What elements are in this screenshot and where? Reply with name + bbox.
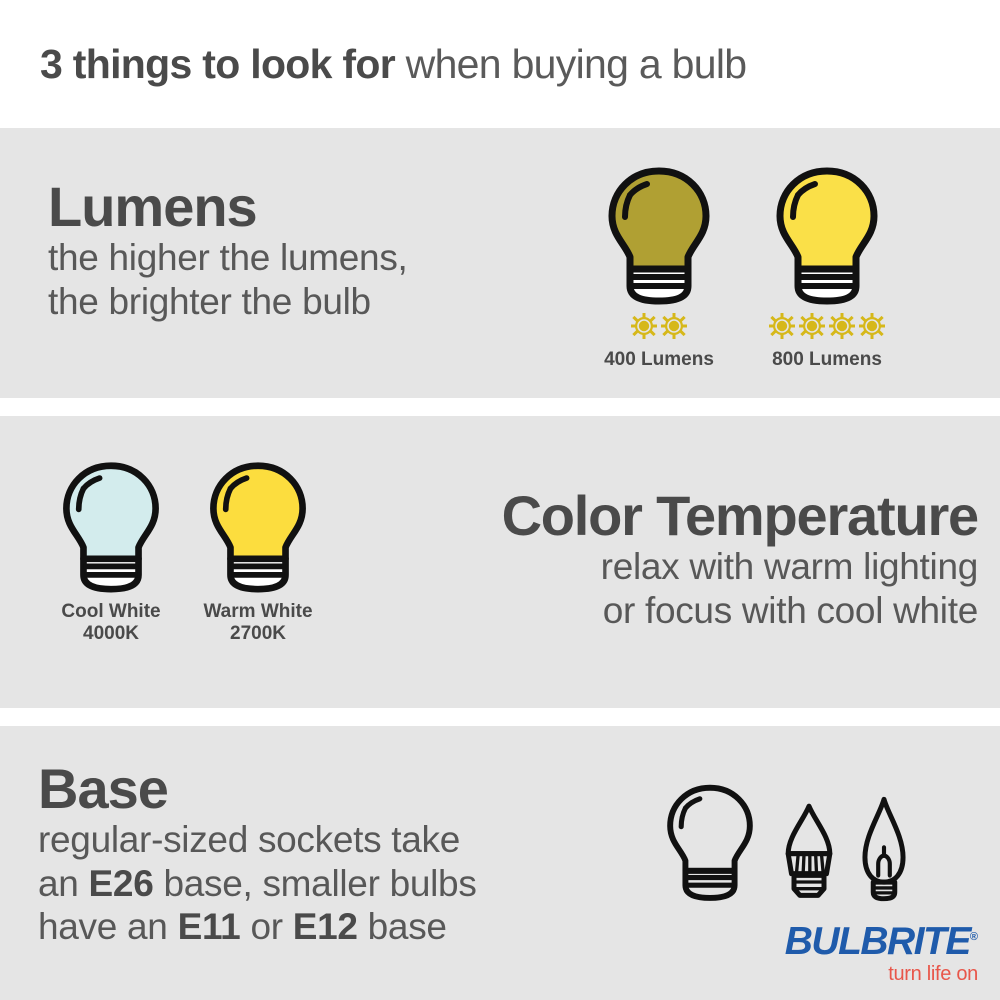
base-code-e12: E12: [293, 906, 358, 947]
color-temperature-icon-group: Cool White 4000K Warm White 2700K: [55, 460, 314, 645]
base-subline-2: an E26 base, smaller bulbs: [38, 862, 477, 905]
base-code-e11: E11: [178, 906, 241, 947]
lumens-subline-1: the higher the lumens,: [48, 236, 408, 279]
base-heading: Base: [38, 760, 477, 818]
color-temperature-subline-2: or focus with cool white: [502, 589, 978, 632]
bulb-cool-white-label-1: Cool White: [61, 601, 160, 623]
sun-icon: [859, 313, 885, 339]
base-line2-pre: an: [38, 863, 89, 904]
base-line3-mid: or: [240, 906, 292, 947]
bulb-400-lumens-icon: [600, 165, 718, 305]
page-title: 3 things to look for when buying a bulb: [40, 41, 746, 88]
bulb-400-lumens-label: 400 Lumens: [604, 349, 714, 371]
color-temperature-heading: Color Temperature: [502, 487, 978, 545]
bulbrite-wordmark-text: BULBRITE: [785, 920, 970, 963]
bulb-warm-white-icon: [202, 460, 314, 593]
bulb-led-candle-outline-icon: [778, 802, 840, 902]
lumens-text-block: Lumens the higher the lumens, the bright…: [48, 178, 408, 323]
bulb-cool-white-label-2: 4000K: [83, 623, 139, 645]
color-temperature-subline-1: relax with warm lighting: [502, 545, 978, 588]
page-title-light: when buying a bulb: [395, 41, 746, 87]
lumens-800-sun-rating: [769, 311, 885, 341]
bulb-warm-white: Warm White 2700K: [202, 460, 314, 645]
header: 3 things to look for when buying a bulb: [0, 0, 1000, 128]
bulb-flame-tip-outline-icon: [858, 796, 910, 902]
color-temperature-text-block: Color Temperature relax with warm lighti…: [502, 487, 978, 632]
sun-icon: [661, 313, 687, 339]
sun-icon: [829, 313, 855, 339]
lumens-400-sun-rating: [631, 311, 687, 341]
base-text-block: Base regular-sized sockets take an E26 b…: [38, 760, 477, 948]
bulbrite-wordmark: BULBRITE®: [753, 922, 978, 961]
base-code-e26: E26: [89, 863, 154, 904]
sun-icon: [769, 313, 795, 339]
infographic-page: 3 things to look for when buying a bulb …: [0, 0, 1000, 1000]
bulb-800-lumens: 800 Lumens: [768, 165, 886, 371]
bulb-400-lumens: 400 Lumens: [600, 165, 718, 371]
bulbrite-tagline: turn life on: [753, 963, 978, 986]
lumens-heading: Lumens: [48, 178, 408, 236]
registered-trademark-icon: ®: [970, 931, 978, 943]
bulb-800-lumens-icon: [768, 165, 886, 305]
lumens-subline-2: the brighter the bulb: [48, 280, 408, 323]
base-icon-group: [660, 782, 910, 902]
lumens-icon-group: 400 Lumens: [600, 165, 886, 371]
bulb-cool-white: Cool White 4000K: [55, 460, 167, 645]
base-line3-pre: have an: [38, 906, 178, 947]
sun-icon: [631, 313, 657, 339]
page-title-strong: 3 things to look for: [40, 41, 395, 87]
base-subline-1: regular-sized sockets take: [38, 818, 477, 861]
bulb-cool-white-icon: [55, 460, 167, 593]
base-line3-post: base: [358, 906, 447, 947]
bulbrite-logo: BULBRITE® turn life on: [753, 922, 978, 986]
base-line2-post: base, smaller bulbs: [153, 863, 476, 904]
sun-icon: [799, 313, 825, 339]
base-subline-3: have an E11 or E12 base: [38, 905, 477, 948]
bulb-a19-outline-icon: [660, 782, 760, 902]
bulb-warm-white-label-2: 2700K: [230, 623, 286, 645]
bulb-warm-white-label-1: Warm White: [203, 601, 312, 623]
bulb-800-lumens-label: 800 Lumens: [772, 349, 882, 371]
